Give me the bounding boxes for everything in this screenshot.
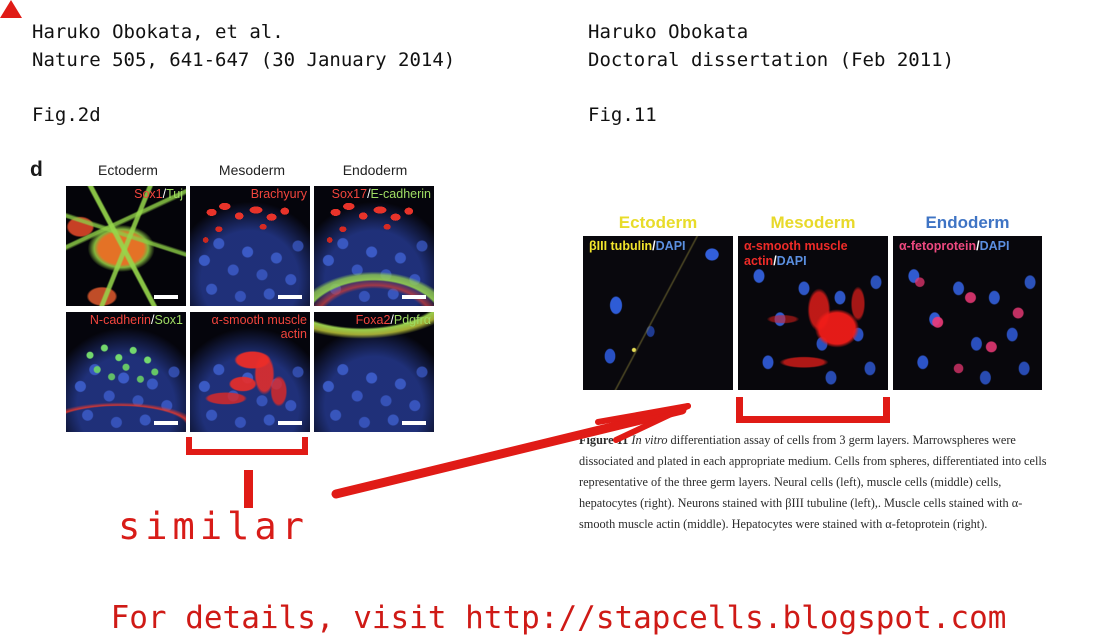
micrograph-foxa2-pdgfra: Foxa2/Pdgfrα	[314, 312, 434, 432]
micrograph-label: α-fetoprotein/DAPI	[899, 239, 1039, 254]
micrograph-alpha-smooth-muscle-actin: α-smooth muscle actin	[190, 312, 310, 432]
similar-annotation-label: similar	[118, 505, 309, 548]
up-arrow-shaft	[244, 470, 253, 508]
left-citation-line: Nature 505, 641-647 (30 January 2014)	[32, 49, 455, 71]
caption-figure-number: Figure 11	[579, 433, 628, 447]
micrograph-brachyury: Brachyury	[190, 186, 310, 306]
micrograph-label: βIII tubulin/DAPI	[589, 239, 729, 254]
slide-canvas: Haruko Obokata, et al. Nature 505, 641-6…	[0, 0, 1117, 643]
scale-bar	[154, 421, 178, 425]
left-bracket-tick-end	[302, 437, 308, 451]
signal-overlay-red	[314, 186, 434, 306]
marker-green-label: Pdgfrα	[394, 313, 431, 327]
scale-bar	[278, 295, 302, 299]
panel-letter-d: d	[30, 158, 43, 182]
micrograph-image	[66, 186, 186, 306]
micrograph-sox1-tuj: Sox1/Tuj	[66, 186, 186, 306]
marker-red-label: Sox17	[332, 187, 367, 201]
micrograph-image	[893, 236, 1042, 390]
micrograph-image	[583, 236, 733, 390]
right-figure-label: Fig.11	[588, 104, 657, 126]
signal-overlay	[190, 186, 310, 306]
micrograph-label: Foxa2/Pdgfrα	[315, 313, 431, 327]
micrograph-image	[314, 186, 434, 306]
micrograph-label: α-smooth muscle actin	[191, 313, 307, 341]
signal-overlay-red	[66, 312, 186, 432]
left-germlayer-heading-ectoderm: Ectoderm	[66, 162, 190, 178]
left-figure-label: Fig.2d	[32, 104, 101, 126]
micrograph-image	[314, 312, 434, 432]
left-grid-row-top: Sox1/Tuj Brachyury Sox17/E-cadherin	[66, 186, 434, 306]
up-arrow-head-icon	[0, 0, 22, 18]
micrograph-biii-tubulin-dapi: βIII tubulin/DAPI	[583, 236, 733, 390]
figure-caption: Figure 11 In vitro differentiation assay…	[579, 430, 1053, 535]
left-germlayer-heading-endoderm: Endoderm	[314, 162, 436, 178]
micrograph-sox17-ecadherin: Sox17/E-cadherin	[314, 186, 434, 306]
counterstain-label: DAPI	[777, 254, 807, 268]
footer-url-text: For details, visit http://stapcells.blog…	[0, 600, 1117, 636]
right-source-header: Haruko Obokata Doctoral dissertation (Fe…	[588, 18, 954, 74]
right-citation-line: Doctoral dissertation (Feb 2011)	[588, 49, 954, 71]
marker-stain-label: βIII tubulin	[589, 239, 652, 253]
left-source-header: Haruko Obokata, et al. Nature 505, 641-6…	[32, 18, 455, 74]
right-bracket-horizontal	[736, 416, 890, 423]
right-germlayer-heading-ectoderm: Ectoderm	[583, 213, 733, 233]
counterstain-label: DAPI	[656, 239, 686, 253]
caption-title-rest: differentiation assay of cells from 3 ge…	[667, 433, 909, 447]
left-bracket-tick-start	[186, 437, 192, 451]
micrograph-label: Brachyury	[191, 187, 307, 201]
micrograph-alpha-fetoprotein-dapi: α-fetoprotein/DAPI	[893, 236, 1042, 390]
signal-overlay	[314, 312, 434, 432]
left-author-line: Haruko Obokata, et al.	[32, 21, 284, 43]
micrograph-alpha-smooth-muscle-actin-dapi: α-smooth muscle actin/DAPI	[738, 236, 888, 390]
scale-bar	[278, 421, 302, 425]
micrograph-label: Sox1/Tuj	[67, 187, 183, 201]
marker-red-label: Foxa2	[356, 313, 391, 327]
left-grid-row-bottom: N-cadherin/Sox1 α-smooth muscle actin Fo…	[66, 312, 434, 432]
right-bracket-tick-start	[736, 397, 743, 417]
right-germlayer-heading-endoderm: Endoderm	[893, 213, 1042, 233]
caption-title-italic: In vitro	[631, 433, 667, 447]
marker-stain-label: α-fetoprotein	[899, 239, 976, 253]
marker-green-label: E-cadherin	[371, 187, 431, 201]
micrograph-label: α-smooth muscle actin/DAPI	[744, 239, 884, 269]
scale-bar	[402, 295, 426, 299]
micrograph-label: Sox17/E-cadherin	[315, 187, 431, 201]
right-bracket-tick-end	[883, 397, 890, 417]
right-author-line: Haruko Obokata	[588, 21, 748, 43]
scale-bar	[402, 421, 426, 425]
signal-overlay	[893, 236, 1042, 390]
scale-bar	[154, 295, 178, 299]
marker-green-label: Tuj	[166, 187, 183, 201]
caption-body: Marrowspheres were dissociated and plate…	[579, 433, 1047, 531]
micrograph-label: N-cadherin/Sox1	[67, 313, 183, 327]
marker-red-label: Brachyury	[251, 187, 307, 201]
micrograph-image	[66, 312, 186, 432]
right-micrograph-grid: βIII tubulin/DAPI α-smooth muscle actin/…	[583, 236, 1042, 390]
left-germlayer-heading-mesoderm: Mesoderm	[190, 162, 314, 178]
micrograph-image	[190, 186, 310, 306]
marker-red-label: N-cadherin	[90, 313, 151, 327]
marker-green-label: Sox1	[155, 313, 184, 327]
marker-red-label: Sox1	[134, 187, 163, 201]
left-micrograph-grid: Sox1/Tuj Brachyury Sox17/E-cadherin N-ca…	[66, 186, 434, 432]
marker-red-label: α-smooth muscle actin	[212, 313, 307, 341]
micrograph-ncadherin-sox1: N-cadherin/Sox1	[66, 312, 186, 432]
right-germlayer-heading-mesoderm: Mesoderm	[738, 213, 888, 233]
counterstain-label: DAPI	[980, 239, 1010, 253]
left-bracket-horizontal	[186, 449, 308, 455]
